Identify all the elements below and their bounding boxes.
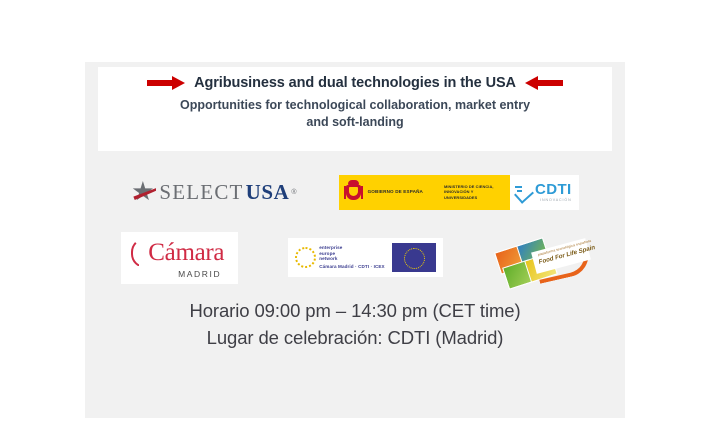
- arrow-right-icon: [147, 76, 185, 91]
- logo-row-primary: SELECT USA ® GOBIERNO DE ESPAÑA MINISTER…: [85, 167, 625, 217]
- cdti-text-block: CDTI INNOVACIÓN: [535, 182, 572, 202]
- logo-row-secondary: Cámara MADRID enterprise europe network …: [85, 230, 625, 285]
- star-icon: [131, 179, 157, 205]
- arrow-left-icon: [525, 76, 563, 91]
- een-mark: enterprise europe network Cámara Madrid …: [295, 245, 385, 269]
- logo-enterprise-europe-network: enterprise europe network Cámara Madrid …: [288, 238, 443, 277]
- headline-row: Agribusiness and dual technologies in th…: [98, 67, 612, 91]
- page-title: Agribusiness and dual technologies in th…: [194, 75, 516, 91]
- event-info: Horario 09:00 pm – 14:30 pm (CET time) L…: [85, 298, 625, 352]
- gobierno-line-1: GOBIERNO DE ESPAÑA: [368, 189, 423, 195]
- gobierno-line-2: MINISTERIO DE CIENCIA, INNOVACIÓN Y UNIV…: [444, 184, 504, 199]
- logo-camara-madrid: Cámara MADRID: [121, 232, 238, 284]
- subtitle-line-1: Opportunities for technological collabor…: [120, 97, 590, 114]
- event-venue: Lugar de celebración: CDTI (Madrid): [85, 325, 625, 352]
- subtitle-line-2: and soft-landing: [120, 114, 590, 131]
- camara-wordmark: Cámara: [148, 240, 224, 265]
- selectusa-select-text: SELECT: [159, 180, 243, 205]
- title-card: Agribusiness and dual technologies in th…: [98, 67, 612, 151]
- logo-cdti: CDTI INNOVACIÓN: [510, 175, 579, 210]
- cdti-check-icon: [515, 184, 532, 201]
- star-circle-icon: [295, 247, 316, 268]
- cdti-wordmark: CDTI: [535, 182, 572, 197]
- arc-icon: [131, 238, 146, 268]
- event-schedule: Horario 09:00 pm – 14:30 pm (CET time): [85, 298, 625, 325]
- trademark-icon: ®: [291, 189, 296, 196]
- camara-city-label: MADRID: [178, 269, 221, 279]
- subtitle: Opportunities for technological collabor…: [98, 97, 612, 131]
- een-word-3: network: [319, 256, 385, 261]
- gobierno-text-block: GOBIERNO DE ESPAÑA: [368, 189, 423, 195]
- een-footer: Cámara Madrid · CDTI · ICEX: [319, 264, 385, 269]
- cdti-tagline: INNOVACIÓN: [535, 198, 572, 202]
- logo-food-for-life-spain: plataforma tecnológica española Food For…: [493, 237, 589, 279]
- coat-of-arms-icon: [344, 180, 363, 204]
- een-wordmark: enterprise europe network Cámara Madrid …: [319, 245, 385, 269]
- logo-gobierno-de-espana: GOBIERNO DE ESPAÑA MINISTERIO DE CIENCIA…: [339, 175, 510, 210]
- eu-flag-icon: [392, 243, 436, 272]
- selectusa-usa-text: USA: [246, 180, 290, 205]
- logo-group-gov-cdti: GOBIERNO DE ESPAÑA MINISTERIO DE CIENCIA…: [339, 175, 579, 210]
- presentation-slide: Agribusiness and dual technologies in th…: [85, 62, 625, 418]
- logo-selectusa: SELECT USA ®: [131, 179, 296, 205]
- camara-main: Cámara: [131, 238, 224, 268]
